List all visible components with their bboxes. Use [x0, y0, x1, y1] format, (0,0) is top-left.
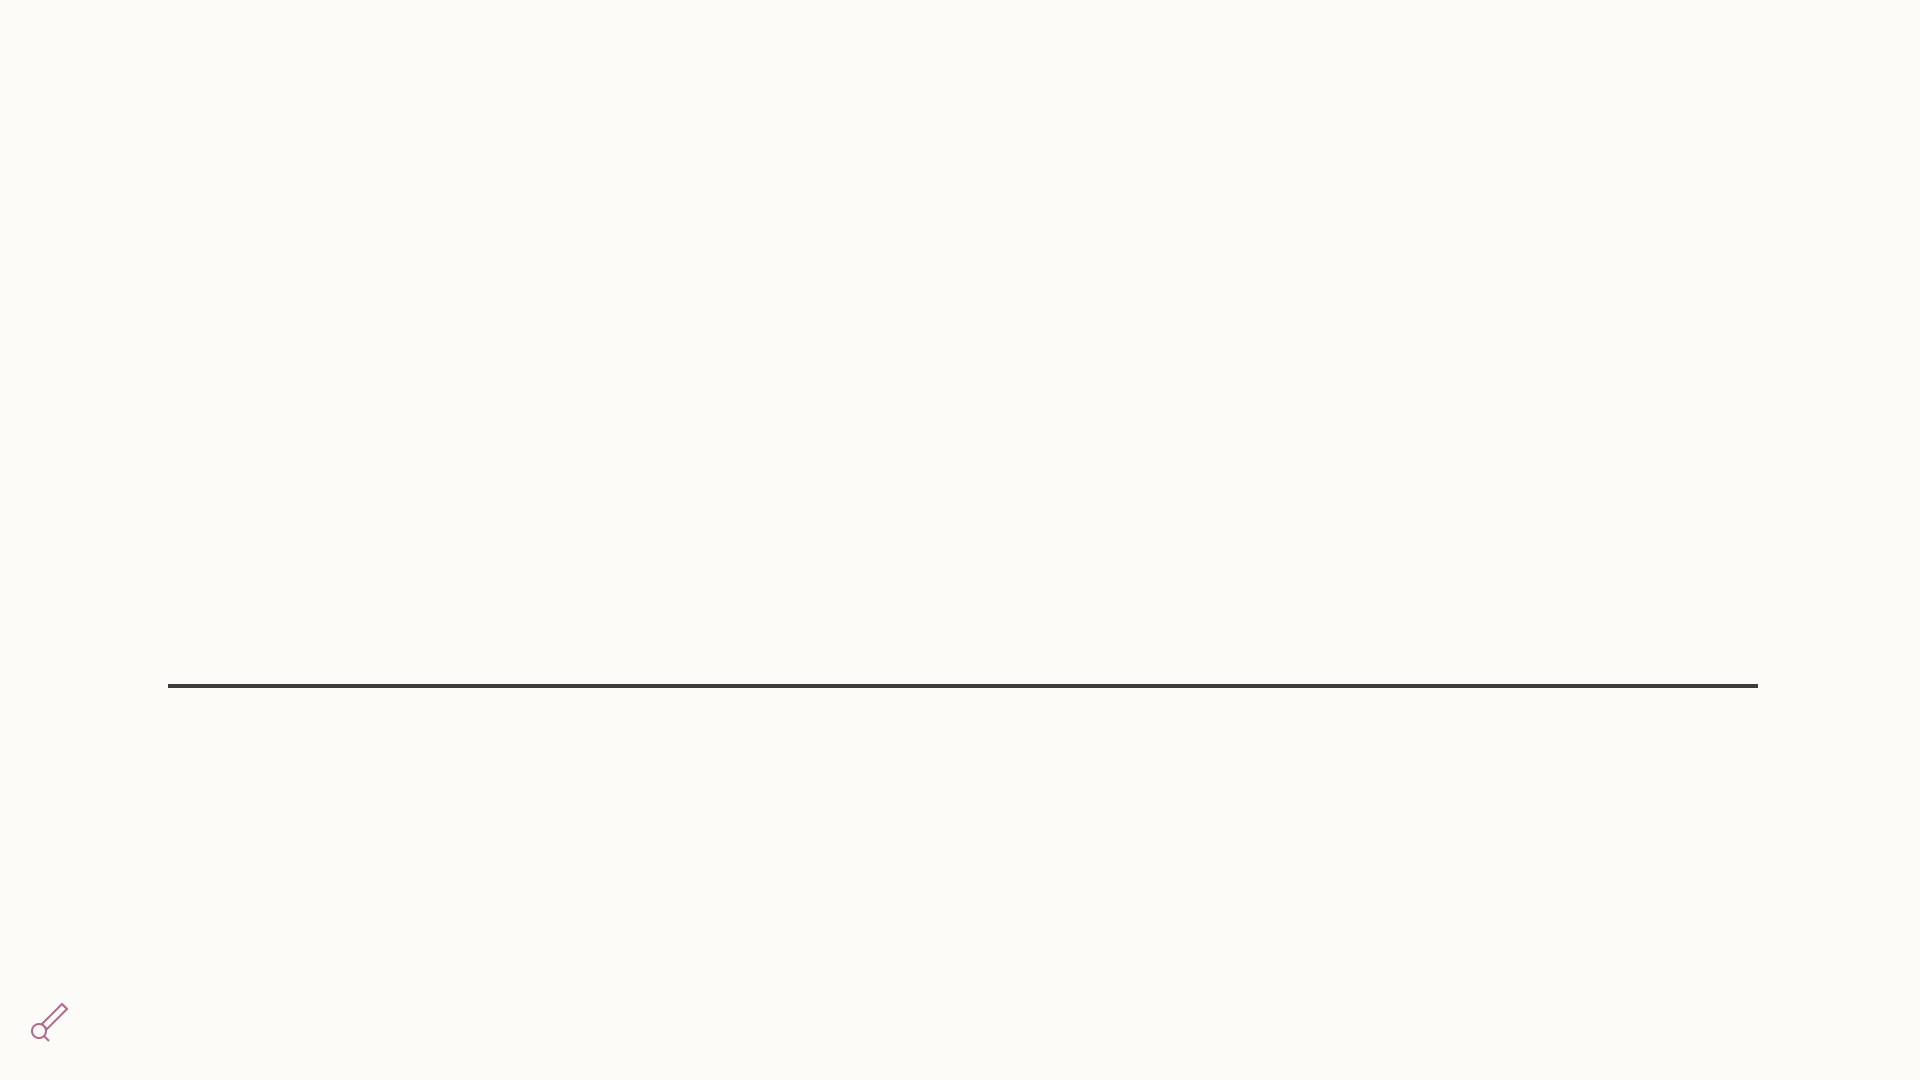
plusx-logo [28, 998, 74, 1042]
timeline-axis [168, 684, 1758, 688]
infographic-canvas [0, 0, 1920, 1080]
pencil-magnifier-logo-icon [28, 998, 72, 1042]
